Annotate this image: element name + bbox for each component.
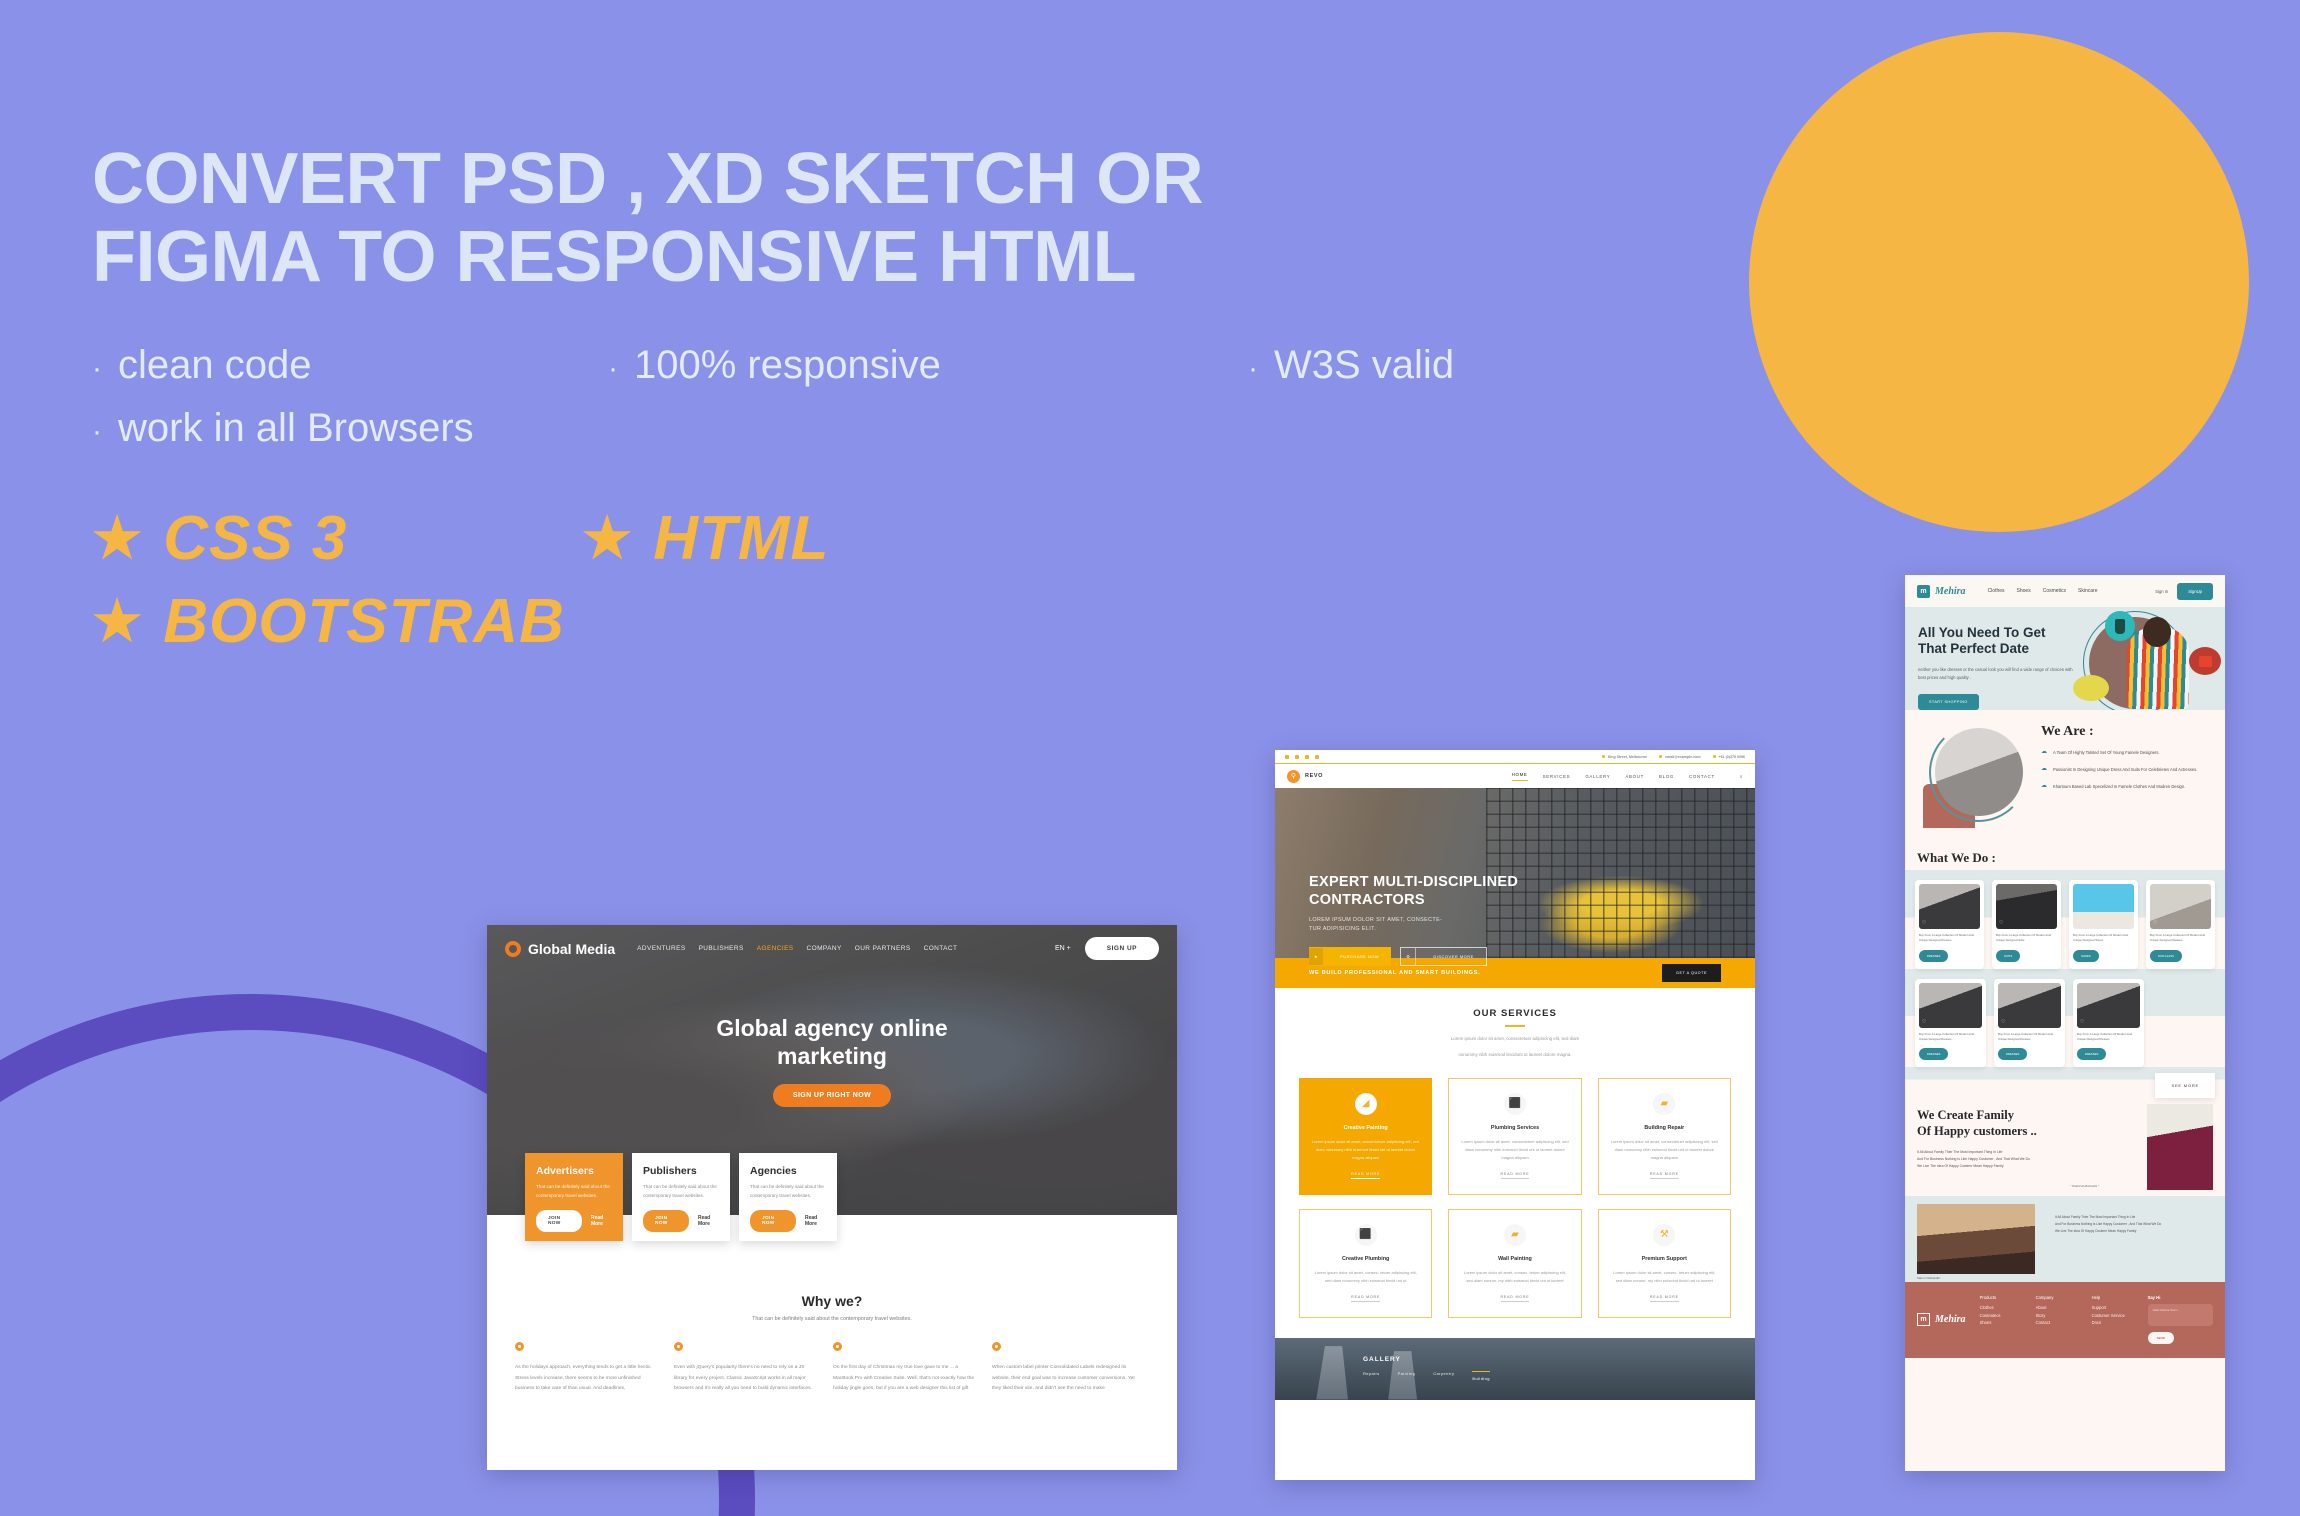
rv-service-title: Premium Support — [1610, 1256, 1719, 1262]
mockup-revo-contractors: King Street, Melbourne email@example.com… — [1275, 750, 1755, 1480]
bullet-icon: · — [1248, 354, 1258, 384]
rv-gallery-tab-painting[interactable]: Painting — [1398, 1371, 1416, 1381]
rv-menu-item-about[interactable]: ABOUT — [1625, 774, 1644, 779]
decorative-ring — [1929, 723, 2028, 822]
mh-product-row: ♡ Buy From A Large Collection Of Modern … — [1915, 979, 2215, 1068]
heart-icon[interactable]: ♡ — [1999, 920, 2003, 926]
mh-product-button[interactable]: SHOES — [2073, 950, 2099, 962]
rv-hero-subtitle: LOREM IPSUM DOLOR SIT AMET, CONSECTE- TU… — [1309, 916, 1518, 934]
circle-bullet-icon — [992, 1342, 1001, 1351]
linkedin-icon[interactable] — [1315, 755, 1319, 759]
lightbulb-icon: ☁ — [2041, 766, 2047, 774]
gm-card-title: Agencies — [750, 1165, 826, 1177]
technology-item-css3: ★ CSS 3 — [92, 503, 582, 574]
mh-footer-column-company: Company About Story Contact — [2036, 1295, 2078, 1344]
gm-join-button[interactable]: JOIN NOW — [750, 1210, 796, 1232]
mh-footer-link-shoes[interactable]: Shoes — [1980, 1319, 2022, 1326]
mh-logo[interactable]: m Mehira — [1917, 585, 1966, 598]
gm-join-button[interactable]: JOIN NOW — [643, 1210, 689, 1232]
rv-service-title: Plumbing Services — [1460, 1125, 1569, 1131]
rv-services-section: OUR SERVICES Lorem ipsum dolor sit amet,… — [1275, 988, 1755, 1060]
technology-item-html: ★ HTML — [582, 503, 829, 574]
model-photo — [2127, 627, 2189, 709]
mh-product-card[interactable]: ♡ Buy From A Large Collection Of Modern … — [1915, 979, 1986, 1068]
mh-family-section: We Create Family Of Happy customers .. I… — [1905, 1098, 2225, 1196]
rv-menu-item-blog[interactable]: BLOG — [1659, 774, 1674, 779]
mh-footer-link-contact[interactable]: Contact — [2036, 1319, 2078, 1326]
rv-read-more-link[interactable]: READ MORE — [1501, 1295, 1530, 1302]
rv-service-body: Lorem ipsum dolor sit amet, consectetuer… — [1610, 1138, 1719, 1162]
mh-footer-heading: Help — [2092, 1295, 2134, 1300]
rv-hero-title-line-1: EXPERT MULTI-DISCIPLINED — [1309, 874, 1518, 892]
mh-we-are-point: ☁ Passionist In Designing Unique Dress A… — [2041, 766, 2213, 774]
gm-card-body: That can be definitely said about the co… — [536, 1183, 612, 1200]
gm-card-agencies[interactable]: Agencies That can be definitely said abo… — [739, 1153, 837, 1241]
gm-menu-item-contact[interactable]: CONTACT — [924, 945, 958, 952]
mh-signup-button[interactable]: SignUp — [2177, 583, 2213, 600]
rv-read-more-link[interactable]: READ MORE — [1650, 1295, 1679, 1302]
gm-hero-title: Global agency online marketing — [487, 1014, 1177, 1070]
feature-row: · work in all Browsers — [92, 406, 1712, 451]
bullet-icon: · — [608, 354, 618, 384]
mh-product-button[interactable]: SUN GLASS — [2150, 950, 2182, 962]
rv-logo[interactable]: ⚲ REVO — [1287, 770, 1323, 783]
mh-testimonial-band: Stars In Mohandis" It All About Family T… — [1905, 1196, 2225, 1282]
testimonial-photo — [1917, 1204, 2035, 1274]
rv-purchase-now-button[interactable]: ★ PURCHASE NOW — [1309, 947, 1391, 966]
rv-services-sub-line-1: Lorem ipsum dolor sit amet, consectetuer… — [1275, 1034, 1755, 1043]
paint-bucket-icon: ⬛ — [1504, 1093, 1526, 1115]
mh-product-card-sunglasses[interactable]: ♡ Buy From A Large Collection Of Modern … — [2146, 880, 2215, 969]
rv-service-body: Lorem ipsum dolor sit amet, consectetuer… — [1460, 1138, 1569, 1162]
rv-get-a-quote-button[interactable]: GET A QUOTE — [1662, 964, 1721, 982]
gm-read-more-link[interactable]: Read More — [698, 1215, 719, 1227]
mh-menu: Clothes Shoes Cosmetics Skincare — [1988, 588, 2098, 594]
rv-read-more-link[interactable]: READ MORE — [1501, 1172, 1530, 1179]
rv-menu-item-services[interactable]: SERVICES — [1543, 774, 1571, 779]
mh-nav-right: Sign In SignUp — [2155, 583, 2213, 600]
technology-label: BOOTSTRAB — [163, 586, 565, 657]
gm-nav-right: EN + SIGN UP — [1055, 937, 1159, 960]
rv-logo-label: REVO — [1305, 773, 1323, 779]
rv-discover-more-button[interactable]: ⚙ DISCOVER MORE — [1400, 947, 1487, 966]
mh-see-more-wrap: SEE MORE — [1905, 1067, 2225, 1098]
feature-label: clean code — [118, 343, 311, 388]
mh-product-caption: Buy From A Large Collection Of Modern An… — [1998, 1032, 2061, 1043]
circle-bullet-icon — [515, 1342, 524, 1351]
mh-we-are-point: ☁ A Team Of Highly Talnted Set Of Young … — [2041, 749, 2213, 757]
rv-hero-buttons: ★ PURCHASE NOW ⚙ DISCOVER MORE — [1309, 947, 1518, 966]
rv-gallery-section: GALLERY Repairs Painting Carpentry Build… — [1275, 1338, 1755, 1400]
mh-product-button[interactable]: DRESSES — [1998, 1048, 2027, 1060]
mh-product-spacer — [2152, 979, 2215, 1068]
feature-label: 100% responsive — [634, 343, 941, 388]
mh-footer-column-products: Products Clothes Cosmatecs Shoes — [1980, 1295, 2022, 1344]
gm-hero-title-line-2: marketing — [487, 1042, 1177, 1070]
mh-product-caption: Buy From A Large Collection Of Modern An… — [1919, 1032, 1982, 1043]
gm-card-publishers[interactable]: Publishers That can be definitely said a… — [632, 1153, 730, 1241]
mh-family-quote-author: " Shahd Al-Mohandis " — [1917, 1184, 2113, 1188]
heart-icon[interactable]: ♡ — [2153, 920, 2157, 926]
customer-photo — [2147, 1104, 2213, 1190]
rv-gallery-content: GALLERY Repairs Painting Carpentry Build… — [1363, 1356, 1490, 1381]
gm-menu-item-adventures[interactable]: ADVENTURES — [637, 945, 685, 952]
circle-bullet-icon — [833, 1342, 842, 1351]
mh-menu-item-skincare[interactable]: Skincare — [2078, 588, 2097, 594]
rv-address: King Street, Melbourne — [1602, 755, 1647, 759]
feature-item-clean-code: · clean code — [92, 343, 608, 388]
mh-what-we-do-header: What We Do : — [1905, 842, 2225, 870]
rv-service-card-wall-painting[interactable]: ▰ Wall Painting Lorem ipsum dolor sit am… — [1448, 1209, 1581, 1318]
gm-feature-column: On the first day of Christmas my true lo… — [833, 1342, 976, 1395]
mh-send-button[interactable]: SEND — [2148, 1332, 2174, 1344]
gm-menu-item-agencies[interactable]: AGENCIES — [757, 945, 794, 952]
gm-column-text: When custom label printer Consolidated L… — [992, 1363, 1135, 1395]
bullet-icon: · — [92, 354, 102, 384]
rv-service-card-plumbing-services[interactable]: ⬛ Plumbing Services Lorem ipsum dolor si… — [1448, 1078, 1581, 1195]
paint-roller-icon: ◢ — [1355, 1093, 1377, 1115]
mh-product-row: ♡ Buy From A Large Collection Of Modern … — [1915, 880, 2215, 969]
rv-read-more-link[interactable]: READ MORE — [1351, 1295, 1380, 1302]
mh-product-caption: Buy From A Large Collection Of Modern An… — [1919, 933, 1980, 944]
rv-email[interactable]: email@example.com — [1659, 755, 1700, 759]
gm-why-section: Why we? That can be definitely said abou… — [487, 1293, 1177, 1322]
gm-column-text: Even with jQuery's popularity there's no… — [674, 1363, 817, 1395]
mh-footer-link-cosmetecs[interactable]: Cosmatecs — [1980, 1312, 2022, 1319]
gm-join-button[interactable]: JOIN NOW — [536, 1210, 582, 1232]
gm-menu-item-our-partners[interactable]: OUR PARTNERS — [855, 945, 911, 952]
mh-family-title: We Create Family Of Happy customers .. — [1917, 1108, 2113, 1139]
rv-gallery-title: GALLERY — [1363, 1356, 1490, 1363]
product-image: ♡ — [1919, 884, 1980, 929]
gm-menu-item-company[interactable]: COMPANY — [807, 945, 842, 952]
gm-language-selector[interactable]: EN + — [1055, 945, 1071, 952]
envelope-icon — [1659, 755, 1662, 758]
mh-footer-link-story[interactable]: Story — [2036, 1312, 2078, 1319]
rv-service-title: Creative Plumbing — [1311, 1256, 1420, 1262]
mh-product-caption: Buy From A Large Collection Of Modern An… — [2073, 933, 2134, 944]
star-icon: ★ — [582, 510, 633, 566]
mh-product-card-dresses[interactable]: ♡ Buy From A Large Collection Of Modern … — [1915, 880, 1984, 969]
gm-feature-column: When custom label printer Consolidated L… — [992, 1342, 1135, 1395]
product-image: ♡ — [2077, 983, 2140, 1028]
rv-title-underline — [1505, 1025, 1525, 1027]
mh-we-are-photo — [1917, 724, 2029, 830]
product-image: ♡ — [2073, 884, 2134, 929]
twitter-icon[interactable] — [1295, 755, 1299, 759]
gm-logo[interactable]: Global Media — [505, 941, 615, 957]
feature-label: work in all Browsers — [118, 406, 474, 451]
rv-service-body: Lorem ipsum dolor sit amet, consec- tetu… — [1610, 1269, 1719, 1285]
circle-bullet-icon — [674, 1342, 683, 1351]
paint-bucket-icon: ⬛ — [1355, 1224, 1377, 1246]
rv-hero: EXPERT MULTI-DISCIPLINED CONTRACTORS LOR… — [1275, 788, 1755, 958]
mh-navbar: m Mehira Clothes Shoes Cosmetics Skincar… — [1905, 575, 2225, 607]
mh-we-are-point-text: Passionist In Designing Unique Dress And… — [2053, 766, 2197, 774]
gm-hero-content: Global agency online marketing SIGN UP R… — [487, 1014, 1177, 1107]
mehira-monogram-icon: m — [1917, 585, 1930, 598]
mh-family-quote-line-2: And For Business Nothing Is Like Happy C… — [1917, 1156, 2113, 1163]
heart-icon[interactable]: ♡ — [1922, 1019, 1926, 1025]
instagram-icon[interactable] — [1305, 755, 1309, 759]
product-image: ♡ — [1996, 884, 2057, 929]
mh-we-are-section: We Are : ☁ A Team Of Highly Talnted Set … — [1905, 710, 2225, 842]
star-icon: ★ — [92, 510, 143, 566]
mh-say-hi-heading: Say Hi — [2148, 1295, 2213, 1300]
team-icon: ☁ — [2041, 749, 2047, 757]
gm-feature-column: Even with jQuery's popularity there's no… — [674, 1342, 817, 1395]
product-image: ♡ — [1919, 983, 1982, 1028]
wrench-icon: ⚒ — [1653, 1224, 1675, 1246]
rv-navbar: ⚲ REVO HOME SERVICES GALLERY ABOUT BLOG … — [1275, 764, 1755, 788]
mh-we-are-point: ☁ Khartoum Based Lab Specelized In Famel… — [2041, 783, 2213, 791]
rv-menu-item-home[interactable]: HOME — [1512, 772, 1528, 781]
headline-line-2: FIGMA TO RESPONSIVE HTML — [92, 218, 1732, 296]
rv-gallery-tab-repairs[interactable]: Repairs — [1363, 1371, 1380, 1381]
gm-card-actions: JOIN NOW Read More — [643, 1210, 719, 1232]
rv-service-title: Creative Painting — [1311, 1125, 1420, 1131]
gm-column-text: On the first day of Christmas my true lo… — [833, 1363, 976, 1395]
rv-band-text: WE BUILD PROFESSIONAL AND SMART BUILDING… — [1309, 970, 1480, 976]
heart-icon[interactable]: ♡ — [1922, 920, 1926, 926]
feature-label: W3S valid — [1274, 343, 1454, 388]
mh-family-photo-wrap — [2113, 1108, 2213, 1188]
location-pin-icon — [1602, 755, 1605, 758]
mh-logo-label: Mehira — [1935, 586, 1966, 597]
mh-product-button[interactable]: SUITS — [1996, 950, 2020, 962]
bullet-icon: · — [92, 417, 102, 447]
rv-hero-title: EXPERT MULTI-DISCIPLINED CONTRACTORS — [1309, 874, 1518, 909]
magnifier-logo-icon: ⚲ — [1287, 770, 1300, 783]
mh-footer-heading: Company — [2036, 1295, 2078, 1300]
mh-footer-contact-form: Say Hi Hello Mehira Team .. SEND — [2148, 1295, 2213, 1344]
mh-family-text: We Create Family Of Happy customers .. I… — [1917, 1108, 2113, 1188]
technology-row: ★ CSS 3 ★ HTML — [92, 503, 1732, 574]
mh-testimonial-text: It All About Family Thier The Most Impor… — [2055, 1214, 2213, 1234]
rv-phone: +61 (0)375 0356 — [1713, 755, 1745, 759]
toolbox-icon: ▰ — [1504, 1224, 1526, 1246]
gm-hero-title-line-1: Global agency online — [487, 1014, 1177, 1042]
mockup-mehira-store: m Mehira Clothes Shoes Cosmetics Skincar… — [1905, 575, 2225, 1471]
mh-product-caption: Buy From A Large Collection Of Modern An… — [1996, 933, 2057, 944]
search-icon[interactable]: ⌕ — [1740, 774, 1743, 779]
toolbox-icon: ▰ — [1653, 1093, 1675, 1115]
rv-read-more-link[interactable]: READ MORE — [1650, 1172, 1679, 1179]
gm-read-more-link[interactable]: Read More — [805, 1215, 826, 1227]
rv-contact-info: King Street, Melbourne email@example.com… — [1602, 755, 1745, 759]
mh-menu-item-clothes[interactable]: Clothes — [1988, 588, 2005, 594]
rv-service-title: Building Repair — [1610, 1125, 1719, 1131]
mh-product-row-1: ♡ Buy From A Large Collection Of Modern … — [1905, 870, 2225, 969]
rv-hero-sub-line-2: TUR ADIPISICING ELIT. — [1309, 925, 1518, 934]
mehira-monogram-icon: m — [1917, 1313, 1930, 1326]
technology-label: HTML — [653, 503, 829, 574]
product-image: ♡ — [1998, 983, 2061, 1028]
rv-service-title: Wall Painting — [1460, 1256, 1569, 1262]
mh-footer-heading: Products — [1980, 1295, 2022, 1300]
mh-footer-link-about[interactable]: About — [2036, 1304, 2078, 1311]
feature-item-browsers: · work in all Browsers — [92, 406, 474, 451]
gm-card-body: That can be definitely said about the co… — [643, 1183, 719, 1200]
rv-menu: HOME SERVICES GALLERY ABOUT BLOG CONTACT… — [1512, 772, 1743, 781]
rv-hero-title-line-2: CONTRACTORS — [1309, 892, 1518, 910]
feature-row: · clean code · 100% responsive · W3S val… — [92, 343, 1712, 388]
gm-signup-button[interactable]: SIGN UP — [1085, 937, 1159, 960]
mh-we-are-point-text: A Team Of Highly Talnted Set Of Young Fa… — [2053, 749, 2160, 757]
rv-service-card-creative-plumbing[interactable]: ⬛ Creative Plumbing Lorem ipsum dolor si… — [1299, 1209, 1432, 1318]
dress-badge-icon — [2105, 611, 2135, 641]
mh-family-quote-line-3: We Live The Idea Of Happy Custemr Mean H… — [1917, 1163, 2113, 1170]
star-icon: ★ — [92, 593, 143, 649]
mh-hero: All You Need To Get That Perfect Date ne… — [1905, 607, 2225, 710]
rv-service-body: Lorem ipsum dolor sit amet, consec- tetu… — [1311, 1269, 1420, 1285]
rv-service-body: Lorem ipsum dolor sit amet, consec- tetu… — [1460, 1269, 1569, 1285]
phone-icon — [1713, 755, 1716, 758]
mh-hero-subtitle: neither you like dresses or the casual l… — [1918, 666, 2078, 682]
mh-footer-link-clothes[interactable]: Clothes — [1980, 1304, 2022, 1311]
marketing-copy: CONVERT PSD , XD SKETCH OR FIGMA TO RESP… — [92, 140, 1732, 669]
mh-testimonial-caption: Stars In Mohandis" — [1917, 1276, 1941, 1280]
facebook-icon[interactable] — [1285, 755, 1289, 759]
mh-family-quote: It All About Family Thier The Most Impor… — [1917, 1149, 2113, 1171]
rv-service-card-building-repair[interactable]: ▰ Building Repair Lorem ipsum dolor sit … — [1598, 1078, 1731, 1195]
mh-menu-item-shoes[interactable]: Shoes — [2017, 588, 2031, 594]
mh-product-button[interactable]: DRESSES — [1919, 950, 1948, 962]
shoe-badge-icon — [2073, 675, 2109, 701]
mh-hero-illustration — [2069, 613, 2219, 709]
mh-product-caption: Buy From A Large Collection Of Modern An… — [2150, 933, 2211, 944]
mh-product-caption: Buy From A Large Collection Of Modern An… — [2077, 1032, 2140, 1043]
page-title: CONVERT PSD , XD SKETCH OR FIGMA TO RESP… — [92, 140, 1732, 297]
rv-gallery-tab-building[interactable]: Building — [1472, 1371, 1489, 1381]
rv-services-sub-line-2: nonummy nibh euismod tincidunt ut laoree… — [1275, 1050, 1755, 1059]
rv-service-card-creative-painting[interactable]: ◢ Creative Painting Lorem ipsum dolor si… — [1299, 1078, 1432, 1195]
gm-why-title: Why we? — [487, 1293, 1177, 1309]
mh-signin-link[interactable]: Sign In — [2155, 589, 2168, 594]
rv-service-card-premium-support[interactable]: ⚒ Premium Support Lorem ipsum dolor sit … — [1598, 1209, 1731, 1318]
mh-what-we-do-title: What We Do : — [1917, 850, 2213, 866]
mh-footer-link-customer-service[interactable]: Costumer Service — [2092, 1312, 2134, 1319]
heart-icon[interactable]: ♡ — [2001, 1019, 2005, 1025]
gear-icon: ⚙ — [1401, 948, 1416, 965]
gm-card-actions: JOIN NOW Read More — [536, 1210, 612, 1232]
technology-list: ★ CSS 3 ★ HTML ★ BOOTSTRAB — [92, 503, 1732, 657]
gm-logo-label: Global Media — [528, 941, 615, 957]
rv-social-icons[interactable] — [1285, 755, 1319, 759]
rv-gallery-tab-carpentry[interactable]: Carpentry — [1433, 1371, 1454, 1381]
orange-circle-decoration — [1749, 32, 2249, 532]
mh-start-shopping-button[interactable]: START SHOPPING — [1918, 694, 1979, 710]
mh-product-card-suits[interactable]: ♡ Buy From A Large Collection Of Modern … — [1992, 880, 2061, 969]
mockup-global-media: Global Media ADVENTURES PUBLISHERS AGENC… — [487, 925, 1177, 1470]
rv-purchase-label: PURCHASE NOW — [1328, 948, 1391, 965]
rv-services-grid: ◢ Creative Painting Lorem ipsum dolor si… — [1275, 1060, 1755, 1338]
gm-column-text: As the holidays approach, everything ten… — [515, 1363, 658, 1395]
mh-product-button[interactable]: DRESSES — [2077, 1048, 2106, 1060]
rv-menu-item-contact[interactable]: CONTACT — [1689, 774, 1715, 779]
gm-card-actions: JOIN NOW Read More — [750, 1210, 826, 1232]
gm-card-advertisers[interactable]: Advertisers That can be definitely said … — [525, 1153, 623, 1241]
mh-hero-content: All You Need To Get That Perfect Date ne… — [1918, 625, 2078, 710]
rv-hero-sub-line-1: LOREM IPSUM DOLOR SIT AMET, CONSECTE- — [1309, 916, 1518, 925]
mh-family-title-line-1: We Create Family — [1917, 1108, 2113, 1124]
feature-list: · clean code · 100% responsive · W3S val… — [92, 343, 1712, 451]
gm-hero-cta-button[interactable]: SIGN UP RIGHT NOW — [773, 1084, 891, 1107]
gm-card-body: That can be definitely said about the co… — [750, 1183, 826, 1200]
gm-feature-columns: As the holidays approach, everything ten… — [487, 1322, 1177, 1395]
gm-card-group: Advertisers That can be definitely said … — [525, 1153, 837, 1241]
mh-product-card[interactable]: ♡ Buy From A Large Collection Of Modern … — [2073, 979, 2144, 1068]
rv-read-more-link[interactable]: READ MORE — [1351, 1172, 1380, 1179]
mh-footer: m Mehira Products Clothes Cosmatecs Shoe… — [1905, 1282, 2225, 1358]
mh-footer-column-help: Help Support Costumer Service Docs — [2092, 1295, 2134, 1344]
location-pin-icon: ☁ — [2041, 783, 2047, 791]
mh-message-textarea[interactable]: Hello Mehira Team .. — [2148, 1304, 2213, 1326]
technology-item-bootstrap: ★ BOOTSTRAB — [92, 586, 565, 657]
headline-line-1: CONVERT PSD , XD SKETCH OR — [92, 140, 1732, 218]
rv-gallery-tabs: Repairs Painting Carpentry Building — [1363, 1371, 1490, 1381]
mh-footer-logo-label: Mehira — [1935, 1314, 1966, 1325]
gm-read-more-link[interactable]: Read More — [591, 1215, 612, 1227]
heart-icon[interactable]: ♡ — [2080, 1019, 2084, 1025]
rv-hero-content: EXPERT MULTI-DISCIPLINED CONTRACTORS LOR… — [1309, 874, 1518, 966]
mh-product-button[interactable]: DRESSES — [1919, 1048, 1948, 1060]
rv-discover-label: DISCOVER MORE — [1421, 948, 1486, 965]
heart-icon[interactable]: ♡ — [2076, 920, 2080, 926]
product-image: ♡ — [2150, 884, 2211, 929]
mh-we-are-title: We Are : — [2041, 724, 2213, 740]
mh-product-row-2: ♡ Buy From A Large Collection Of Modern … — [1905, 969, 2225, 1068]
technology-row: ★ BOOTSTRAB — [92, 586, 1732, 657]
rv-menu-item-gallery[interactable]: GALLERY — [1585, 774, 1610, 779]
mh-family-title-line-2: Of Happy customers .. — [1917, 1124, 2113, 1140]
mh-hero-title-line-1: All You Need To Get — [1918, 625, 2078, 641]
rv-topbar: King Street, Melbourne email@example.com… — [1275, 750, 1755, 764]
mh-we-are-text: We Are : ☁ A Team Of Highly Talnted Set … — [2041, 724, 2213, 830]
cart-icon: ★ — [1309, 948, 1323, 965]
circle-logo-icon — [505, 941, 521, 957]
mh-menu-item-cosmetics[interactable]: Cosmetics — [2043, 588, 2066, 594]
mh-see-more-button[interactable]: SEE MORE — [2155, 1073, 2215, 1098]
gm-navbar: Global Media ADVENTURES PUBLISHERS AGENC… — [487, 925, 1177, 960]
mh-testimonial-line-3: We Live The Idea Of Happy Custemr Mean H… — [2055, 1228, 2213, 1235]
mh-product-card-shoes[interactable]: ♡ Buy From A Large Collection Of Modern … — [2069, 880, 2138, 969]
rv-service-body: Lorem ipsum dolor sit amet, consectetuer… — [1311, 1138, 1420, 1162]
mh-footer-link-docs[interactable]: Docs — [2092, 1319, 2134, 1326]
technology-label: CSS 3 — [163, 503, 347, 574]
mh-hero-title-line-2: That Perfect Date — [1918, 641, 2078, 657]
mh-hero-title: All You Need To Get That Perfect Date — [1918, 625, 2078, 657]
feature-item-w3s-valid: · W3S valid — [1248, 343, 1454, 388]
gm-menu: ADVENTURES PUBLISHERS AGENCIES COMPANY O… — [637, 945, 957, 952]
gm-card-title: Advertisers — [536, 1165, 612, 1177]
mh-we-are-point-text: Khartoum Based Lab Specelized In Famele … — [2053, 783, 2185, 791]
mh-footer-link-support[interactable]: Support — [2092, 1304, 2134, 1311]
gm-card-title: Publishers — [643, 1165, 719, 1177]
handbag-badge-icon — [2189, 647, 2221, 675]
rv-services-title: OUR SERVICES — [1275, 1008, 1755, 1019]
gm-feature-column: As the holidays approach, everything ten… — [515, 1342, 658, 1395]
mh-family-quote-line-1: It All About Family Thier The Most Impor… — [1917, 1149, 2113, 1156]
feature-item-responsive: · 100% responsive — [608, 343, 1248, 388]
gm-menu-item-publishers[interactable]: PUBLISHERS — [699, 945, 744, 952]
mh-product-card[interactable]: ♡ Buy From A Large Collection Of Modern … — [1994, 979, 2065, 1068]
mh-footer-logo[interactable]: m Mehira — [1917, 1295, 1966, 1344]
